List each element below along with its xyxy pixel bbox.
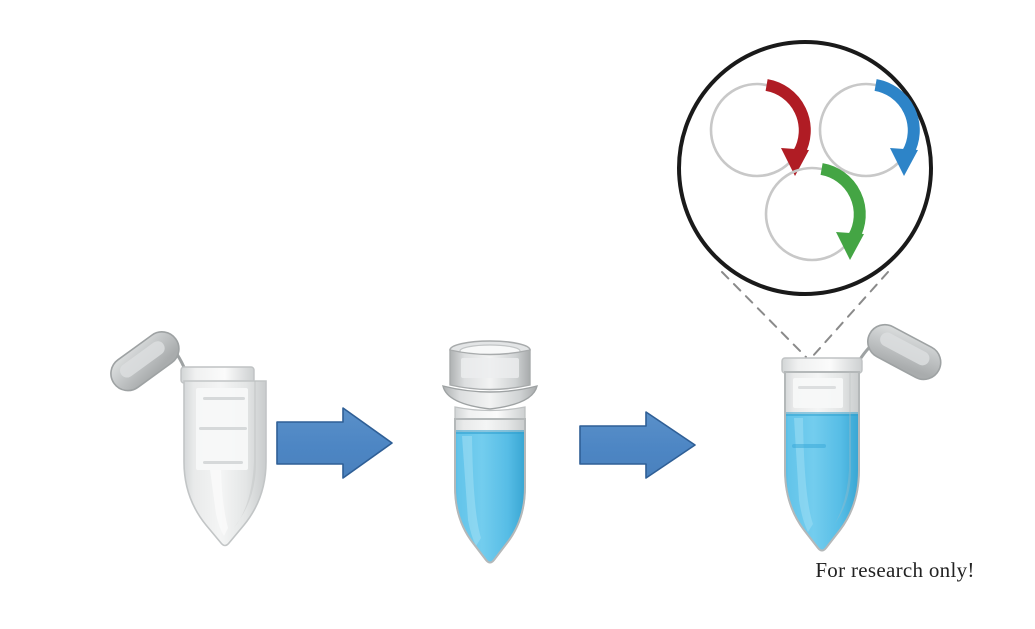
tube-liquid — [450, 432, 530, 572]
step-2-closed-tube-with-liquid — [443, 341, 537, 572]
liquid-surface — [456, 430, 524, 434]
tube-lid-open-right — [862, 319, 947, 386]
tube-graduation-mark — [798, 386, 836, 389]
tube-label-panel — [793, 378, 843, 408]
process-arrow-2 — [580, 412, 695, 478]
figure-canvas: For research only! — [0, 0, 1035, 629]
tube-liquid — [780, 414, 864, 564]
tube-cap-highlight — [461, 358, 519, 378]
workflow-diagram — [0, 0, 1035, 629]
arrow-right-icon — [277, 408, 392, 478]
step-1-empty-open-tube — [104, 325, 266, 545]
research-use-caption: For research only! — [780, 558, 1010, 583]
liquid-surface — [786, 412, 858, 416]
process-arrow-1 — [277, 408, 392, 478]
magnified-plasmid-view — [679, 42, 931, 357]
step-3-open-tube-with-liquid — [780, 319, 947, 564]
tube-graduation-mark — [199, 427, 247, 430]
arrow-right-icon — [580, 412, 695, 478]
tube-graduation-mark — [203, 461, 243, 464]
tube-graduation-mark — [792, 444, 826, 448]
tube-rim — [782, 358, 862, 373]
tube-graduation-mark — [203, 397, 245, 400]
tube-lid-open-left — [104, 325, 185, 397]
